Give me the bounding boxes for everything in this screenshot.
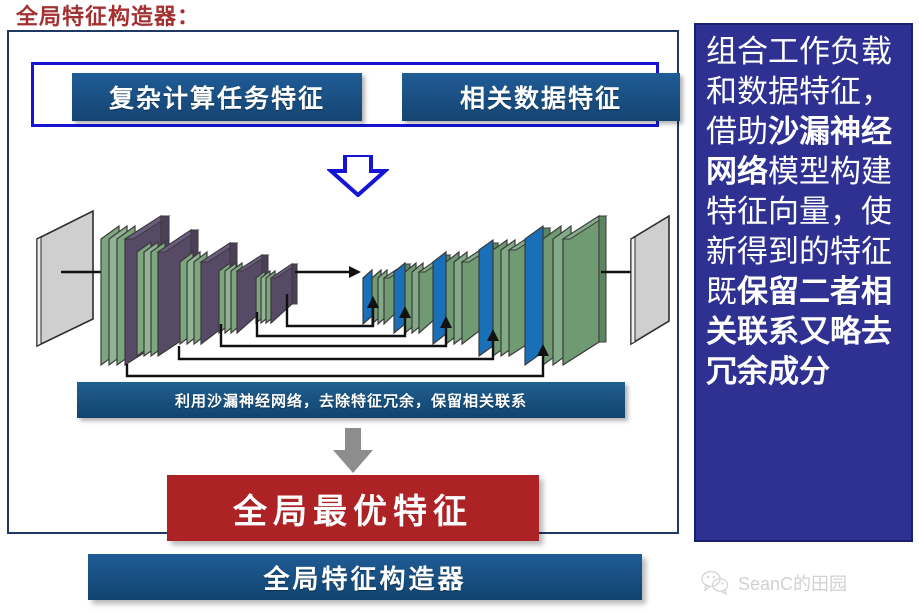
data-feature-chip[interactable]: 相关数据特征 [402, 73, 680, 121]
hourglass-network-diagram [9, 194, 677, 386]
watermark-label: SeanC的田园 [738, 570, 847, 596]
global-feature-constructor-banner: 全局特征构造器 [88, 554, 642, 600]
down-arrow-solid-icon [331, 428, 375, 474]
watermark: SeanC的田园 [700, 565, 915, 601]
input-plane [37, 211, 93, 346]
slide-root: 全局特征构造器： 复杂计算任务特征 相关数据特征 [0, 0, 919, 614]
hourglass-note-banner: 利用沙漏神经网络，去除特征冗余，保留相关联系 [77, 382, 625, 418]
explanation-panel: 组合工作负载和数据特征，借助沙漏神经网络模型构建特征向量，使新得到的特征既保留二… [694, 23, 913, 542]
encoder-block-5 [256, 264, 297, 323]
bottleneck-arrow [295, 266, 361, 278]
workload-feature-chip[interactable]: 复杂计算任务特征 [72, 73, 362, 121]
wechat-icon [700, 570, 730, 596]
decoder-block-5 [525, 216, 606, 365]
output-plane [631, 216, 669, 344]
global-optimal-feature-box: 全局最优特征 [167, 475, 539, 541]
feature-input-group: 复杂计算任务特征 相关数据特征 [31, 62, 659, 127]
down-arrow-outline-icon [327, 155, 389, 197]
diagram-panel: 复杂计算任务特征 相关数据特征 [7, 30, 679, 534]
page-title: 全局特征构造器： [16, 0, 200, 31]
explanation-text: 组合工作负载和数据特征，借助沙漏神经网络模型构建特征向量，使新得到的特征既保留二… [706, 32, 905, 392]
